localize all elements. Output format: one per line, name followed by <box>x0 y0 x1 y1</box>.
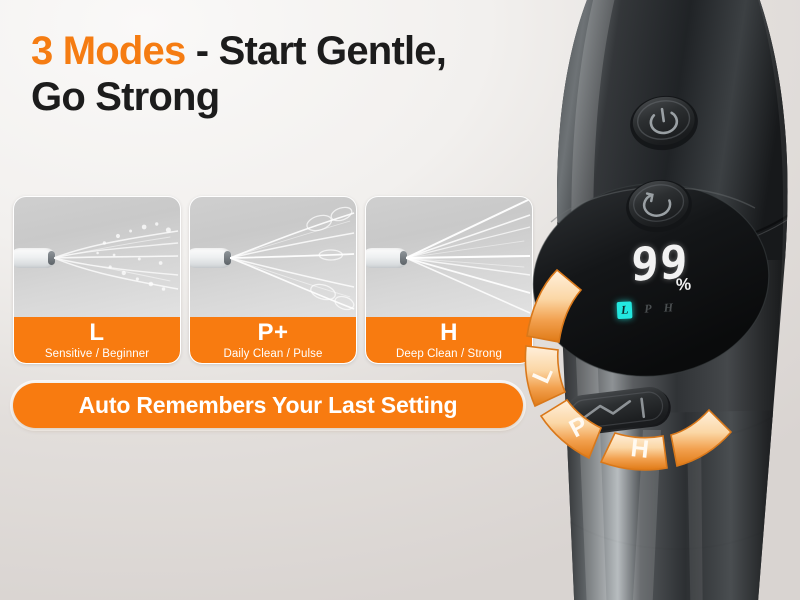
mode-code-l: L <box>89 321 104 345</box>
headline-line2: Go Strong <box>31 75 219 119</box>
headline-accent: 3 Modes <box>31 29 185 73</box>
spray-illustration-p-plus <box>190 197 356 319</box>
spray-pattern-wide-soft <box>54 197 180 319</box>
mode-band-p-plus: P+ Daily Clean / Pulse <box>190 317 356 363</box>
nozzle-icon <box>14 248 56 268</box>
mode-subtitle-l: Sensitive / Beginner <box>45 348 149 360</box>
dial-label-h: H <box>629 434 650 464</box>
headline-rest: - Start Gentle, <box>185 29 446 73</box>
mode-card-p-plus[interactable]: P+ Daily Clean / Pulse <box>189 196 357 364</box>
mode-band-l: L Sensitive / Beginner <box>14 317 180 363</box>
nozzle-icon <box>366 248 408 268</box>
nozzle-icon <box>190 248 232 268</box>
lcd-mode-p: P <box>644 301 652 316</box>
spray-pattern-pulse-medium <box>230 197 356 319</box>
mode-card-l[interactable]: L Sensitive / Beginner <box>13 196 181 364</box>
product-device-image: L P H <box>455 0 800 600</box>
auto-memory-banner-text: Auto Remembers Your Last Setting <box>79 392 458 419</box>
lcd-mode-h: H <box>663 300 673 315</box>
battery-percent-unit: % <box>675 275 691 296</box>
mode-subtitle-p-plus: Daily Clean / Pulse <box>223 348 322 360</box>
lcd-mode-l: L <box>617 301 633 319</box>
auto-memory-banner: Auto Remembers Your Last Setting <box>13 383 523 428</box>
spray-illustration-l <box>14 197 180 319</box>
mode-code-p-plus: P+ <box>257 321 288 345</box>
